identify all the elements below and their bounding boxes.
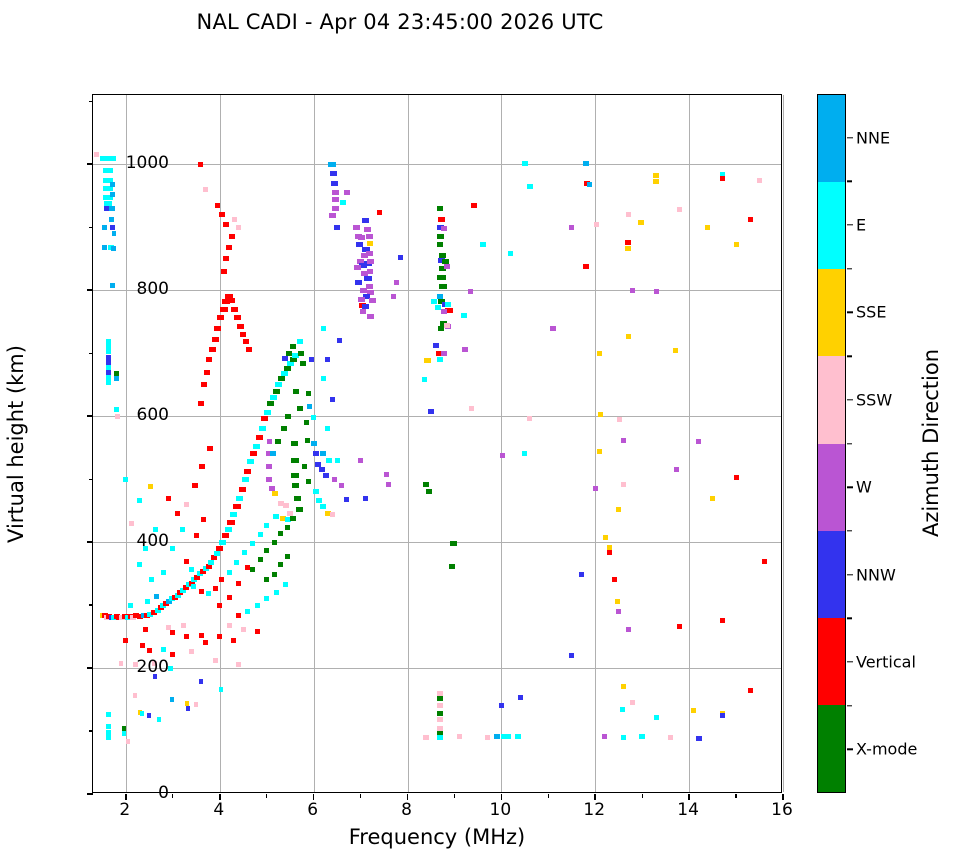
data-point — [307, 404, 312, 409]
data-point — [283, 582, 288, 587]
data-point — [201, 382, 207, 387]
data-point — [437, 242, 443, 247]
data-point — [212, 337, 219, 342]
data-point — [296, 507, 303, 512]
data-point — [186, 706, 190, 711]
colorbar-boundary-tick — [847, 355, 852, 356]
data-point — [522, 161, 528, 166]
data-point — [208, 560, 214, 565]
colorbar-tick-label-x-mode: X-mode — [856, 740, 917, 759]
data-point — [309, 357, 314, 362]
data-point — [199, 589, 204, 594]
data-point — [264, 577, 269, 582]
data-point — [316, 498, 322, 503]
data-point — [119, 661, 123, 666]
data-point — [215, 203, 220, 208]
data-point — [94, 152, 99, 157]
data-point — [112, 231, 116, 236]
data-point — [620, 707, 625, 712]
data-point — [366, 234, 373, 239]
data-point — [192, 483, 198, 488]
colorbar-segment-w — [818, 444, 845, 531]
data-point — [369, 298, 376, 303]
data-point — [462, 347, 468, 352]
colorbar-boundary-tick — [847, 530, 852, 531]
data-point — [227, 570, 232, 575]
data-point — [332, 190, 339, 195]
data-point — [367, 314, 374, 319]
colorbar-segment-sse — [818, 269, 845, 356]
colorbar — [817, 94, 846, 793]
colorbar-tick-mark — [847, 224, 853, 225]
y-axis-tick-mark — [87, 667, 93, 669]
chart-title: NAL CADI - Apr 04 23:45:00 2026 UTC — [0, 10, 800, 34]
data-point — [122, 731, 126, 736]
x-axis-minor-tick — [172, 794, 173, 798]
data-point — [281, 426, 287, 431]
data-point — [569, 225, 574, 230]
data-point — [298, 351, 304, 356]
data-point — [189, 567, 194, 572]
data-point — [398, 255, 403, 260]
data-point — [329, 213, 336, 218]
data-point — [319, 467, 325, 472]
data-point — [250, 451, 257, 456]
data-point — [291, 473, 299, 478]
data-point — [311, 415, 316, 420]
data-point — [103, 168, 113, 173]
data-point — [110, 192, 115, 197]
data-point — [114, 376, 119, 381]
data-point — [239, 487, 246, 492]
data-point — [194, 702, 198, 707]
data-point — [313, 451, 319, 456]
colorbar-tick-label-ssw: SSW — [856, 390, 892, 409]
data-point — [274, 590, 279, 595]
data-point — [438, 217, 445, 222]
data-point — [366, 251, 373, 256]
colorbar-tick-mark — [847, 312, 853, 313]
data-point — [264, 548, 269, 553]
y-axis-tick-mark — [87, 541, 93, 543]
colorbar-tick-label-w: W — [856, 478, 872, 497]
data-point — [264, 596, 269, 601]
data-point — [258, 532, 263, 537]
data-point — [219, 577, 224, 582]
data-point — [334, 225, 340, 230]
data-point — [170, 546, 175, 551]
data-point — [214, 326, 221, 331]
data-point — [201, 517, 206, 522]
data-point — [323, 473, 329, 478]
data-point — [143, 627, 148, 632]
data-point — [189, 649, 194, 654]
x-axis-minor-tick — [642, 794, 643, 798]
data-point — [217, 634, 222, 639]
data-point — [227, 595, 232, 600]
data-point — [437, 275, 446, 280]
y-axis-minor-tick — [89, 101, 93, 102]
data-point — [696, 736, 702, 741]
data-point — [431, 299, 437, 304]
data-point — [313, 489, 319, 494]
data-point — [214, 551, 220, 556]
colorbar-tick-label-sse: SSE — [856, 303, 886, 322]
data-point — [594, 222, 599, 227]
colorbar-boundary-tick — [847, 618, 852, 619]
data-point — [221, 269, 227, 274]
data-point — [261, 416, 268, 421]
data-point — [550, 326, 556, 331]
data-point — [123, 477, 128, 482]
data-point — [330, 171, 337, 176]
x-axis-minor-tick — [454, 794, 455, 798]
data-point — [720, 176, 725, 181]
data-point — [233, 504, 241, 509]
data-point — [438, 326, 444, 331]
data-point — [471, 203, 477, 208]
data-point — [219, 687, 223, 692]
data-point — [330, 512, 335, 517]
data-point — [145, 599, 150, 604]
y-axis-tick-label: 600 — [137, 405, 169, 425]
data-point — [294, 496, 301, 501]
data-point — [705, 225, 710, 230]
data-point — [449, 564, 455, 569]
data-point — [217, 315, 224, 320]
colorbar-segment-vertical — [818, 618, 845, 705]
data-point — [236, 581, 241, 586]
data-point — [273, 389, 280, 394]
data-point — [256, 435, 263, 440]
data-point — [499, 703, 504, 708]
data-point — [291, 441, 298, 446]
data-point — [278, 531, 283, 536]
data-point — [106, 712, 111, 717]
y-axis-minor-tick — [89, 479, 93, 480]
y-axis-minor-tick — [89, 227, 93, 228]
data-point — [621, 482, 626, 487]
data-point — [180, 527, 185, 532]
data-point — [720, 713, 725, 718]
data-point — [306, 479, 311, 484]
data-point — [259, 426, 266, 431]
colorbar-tick-mark — [847, 661, 853, 662]
data-point — [358, 297, 365, 302]
data-point — [325, 426, 330, 431]
data-point — [320, 451, 326, 456]
data-point — [423, 735, 429, 740]
data-point — [696, 439, 701, 444]
data-point — [241, 627, 246, 632]
data-point — [216, 546, 223, 551]
x-axis-minor-tick — [266, 794, 267, 798]
data-point — [198, 162, 203, 167]
data-point — [422, 377, 427, 382]
data-point — [384, 472, 389, 477]
data-point — [653, 173, 659, 178]
data-point — [437, 234, 444, 239]
data-point — [762, 559, 767, 564]
data-point — [321, 326, 326, 331]
y-axis-minor-tick — [89, 730, 93, 731]
data-point — [569, 653, 574, 658]
data-point — [232, 217, 237, 222]
data-point — [626, 212, 631, 217]
data-point — [194, 533, 199, 538]
y-axis-tick-mark — [87, 793, 93, 795]
colorbar-tick-mark — [847, 137, 853, 138]
data-point — [677, 624, 682, 629]
data-point — [360, 309, 366, 314]
data-point — [228, 298, 235, 303]
data-point — [140, 643, 145, 648]
data-point — [441, 351, 447, 356]
data-point — [691, 708, 696, 713]
data-point — [332, 197, 339, 202]
data-point — [109, 217, 114, 222]
data-point — [137, 498, 142, 503]
data-point — [240, 332, 246, 337]
data-point — [331, 181, 338, 186]
y-axis-label-holder: Virtual height (km) — [20, 94, 21, 793]
data-point — [250, 567, 255, 572]
data-point — [441, 309, 447, 314]
data-point — [654, 289, 659, 294]
data-point — [199, 679, 203, 684]
data-point — [272, 491, 278, 496]
data-point — [367, 241, 373, 246]
data-point — [137, 562, 142, 567]
data-point — [157, 717, 161, 722]
data-point — [617, 417, 622, 422]
data-point — [285, 414, 291, 419]
data-point — [111, 246, 116, 251]
data-point — [367, 259, 374, 264]
data-point — [264, 523, 269, 528]
data-point — [133, 693, 137, 698]
x-axis-tick-label: 8 — [401, 800, 412, 820]
data-point — [607, 550, 612, 555]
data-point — [527, 184, 533, 189]
colorbar-boundary-tick — [847, 443, 852, 444]
data-point — [227, 520, 235, 525]
data-point — [219, 540, 226, 545]
data-point — [100, 156, 116, 161]
data-point — [220, 307, 228, 312]
data-point — [246, 347, 252, 352]
data-point — [621, 438, 626, 443]
data-point — [284, 366, 291, 371]
data-point — [677, 207, 682, 212]
y-axis-tick-label: 800 — [137, 279, 169, 299]
data-point — [673, 348, 678, 353]
data-point — [337, 338, 342, 343]
data-point — [748, 217, 753, 222]
x-axis-minor-tick — [548, 794, 549, 798]
data-point — [229, 234, 235, 239]
x-axis-tick-label: 2 — [119, 800, 130, 820]
data-point — [170, 652, 175, 657]
y-axis-label: Virtual height (km) — [4, 345, 28, 543]
data-point — [630, 288, 635, 293]
data-point — [114, 407, 119, 412]
data-point — [364, 276, 372, 281]
data-point — [285, 554, 290, 559]
data-point — [191, 584, 196, 589]
data-point — [278, 376, 285, 381]
data-point — [353, 225, 360, 230]
data-point — [437, 735, 443, 740]
data-point — [275, 439, 281, 444]
data-point — [710, 496, 715, 501]
colorbar-segment-e — [818, 182, 845, 269]
data-point — [247, 459, 254, 464]
data-point — [292, 483, 299, 488]
data-point — [234, 315, 241, 320]
data-point — [335, 458, 340, 463]
data-point — [330, 397, 335, 402]
data-point — [332, 477, 337, 482]
data-point — [480, 242, 486, 247]
data-point — [321, 376, 326, 381]
data-point — [236, 662, 241, 667]
data-point — [204, 370, 210, 375]
data-point — [469, 406, 474, 411]
data-point — [444, 264, 450, 269]
gridline-vertical — [783, 95, 784, 792]
data-point — [593, 486, 598, 491]
x-axis-tick-label: 16 — [771, 800, 793, 820]
data-point — [444, 323, 450, 328]
data-point — [213, 658, 218, 663]
data-point — [227, 623, 232, 628]
data-point — [720, 618, 725, 623]
data-point — [231, 307, 238, 312]
data-point — [255, 629, 260, 634]
data-point — [244, 469, 251, 474]
data-point — [668, 735, 673, 740]
data-point — [639, 734, 645, 739]
data-point — [494, 734, 500, 739]
colorbar-tick-mark — [847, 486, 853, 487]
data-point — [198, 401, 204, 406]
colorbar-tick-mark — [847, 399, 853, 400]
data-point — [253, 444, 260, 449]
data-point — [391, 294, 396, 299]
data-point — [468, 289, 473, 294]
data-point — [428, 409, 434, 414]
data-point — [437, 206, 443, 211]
data-point — [297, 406, 303, 411]
data-point — [344, 497, 349, 502]
data-point — [199, 633, 204, 638]
data-point — [250, 541, 255, 546]
data-point — [500, 453, 505, 458]
data-point — [306, 391, 311, 396]
data-point — [626, 334, 631, 339]
data-point — [654, 715, 659, 720]
colorbar-boundary-tick — [847, 181, 852, 182]
data-point — [621, 684, 626, 689]
data-point — [377, 210, 382, 215]
data-point — [231, 638, 236, 643]
x-axis-minor-tick — [735, 794, 736, 798]
data-point — [283, 503, 289, 508]
data-point — [293, 389, 299, 394]
data-point — [291, 458, 299, 463]
data-point — [437, 717, 443, 722]
data-point — [184, 502, 189, 507]
data-point — [674, 467, 679, 472]
data-point — [219, 212, 225, 217]
data-point — [243, 339, 249, 344]
data-point — [437, 703, 443, 708]
colorbar-tick-label-e: E — [856, 216, 866, 235]
x-axis-minor-tick — [360, 794, 361, 798]
data-point — [115, 414, 120, 419]
y-axis-tick-mark — [87, 289, 93, 291]
data-point — [426, 489, 432, 494]
data-point — [225, 527, 232, 532]
data-point — [161, 570, 166, 575]
data-point — [394, 280, 399, 285]
data-point — [437, 357, 443, 362]
data-point — [161, 647, 166, 652]
data-point — [598, 412, 603, 417]
data-point — [439, 284, 447, 289]
x-axis-tick-label: 14 — [677, 800, 699, 820]
data-point — [264, 410, 271, 415]
data-point — [110, 182, 115, 187]
data-point — [181, 623, 186, 628]
data-point — [597, 351, 602, 356]
data-point — [653, 179, 659, 184]
data-point — [267, 401, 274, 406]
data-point — [638, 220, 644, 225]
colorbar-segment-ssw — [818, 356, 845, 443]
data-point — [266, 477, 272, 482]
data-point — [297, 339, 303, 344]
data-point — [527, 416, 532, 421]
x-axis-tick-label: 4 — [213, 800, 224, 820]
data-point — [501, 734, 507, 739]
data-point — [203, 187, 208, 192]
data-point — [325, 357, 330, 362]
data-point — [223, 222, 229, 227]
data-point — [423, 482, 429, 487]
data-point — [360, 288, 367, 293]
data-point — [203, 640, 208, 645]
data-point — [437, 696, 443, 701]
data-point — [217, 603, 222, 608]
data-point — [626, 627, 631, 632]
y-axis-minor-tick — [89, 604, 93, 605]
data-point — [236, 225, 241, 230]
data-point — [278, 562, 283, 567]
x-axis-tick-label: 12 — [583, 800, 605, 820]
colorbar-segment-nne — [818, 95, 845, 182]
x-axis-tick-label: 6 — [307, 800, 318, 820]
data-point — [255, 603, 260, 608]
y-axis-tick-label: 0 — [158, 783, 169, 803]
y-axis-tick-mark — [87, 163, 93, 165]
data-point — [612, 577, 617, 582]
data-point — [362, 218, 369, 223]
data-point — [209, 347, 216, 352]
data-point — [583, 161, 589, 166]
data-point — [148, 484, 153, 489]
